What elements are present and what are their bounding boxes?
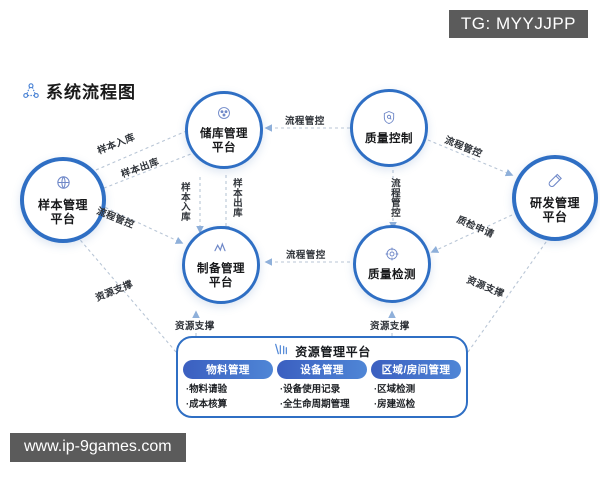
resource-bars-icon xyxy=(273,342,289,361)
edge-label-prep-to-storage: 样本入库 xyxy=(178,182,189,222)
node-label: 样本管理平台 xyxy=(38,198,88,226)
watermark-badge: www.ip-9games.com xyxy=(10,433,186,462)
resource-panel-title: 资源管理平台 xyxy=(295,343,371,360)
flask-research-icon xyxy=(547,172,564,194)
chart-trend-icon xyxy=(213,240,229,261)
list-item: 物料请验 xyxy=(186,383,274,398)
list-item: 设备使用记录 xyxy=(280,383,368,398)
resource-item-list: 物料请验 成本核算 xyxy=(182,383,274,412)
node-preparation-platform[interactable]: 制备管理平台 xyxy=(182,226,260,304)
node-sample-platform[interactable]: 样本管理平台 xyxy=(20,157,106,243)
diagram-canvas: TG: MYYJJPP www.ip-9games.com 系统流程图 xyxy=(0,0,600,480)
node-quality-control[interactable]: 质量控制 xyxy=(350,89,428,167)
edge-label-res-to-prep: 资源支撑 xyxy=(175,318,215,332)
resource-management-panel[interactable]: 资源管理平台 物料管理 物料请验 成本核算 设备管理 设备使用记录 全生命周期管… xyxy=(176,336,468,418)
resource-column: 区域/房间管理 区域检测 房建巡检 xyxy=(370,360,462,412)
tg-badge: TG: MYYJJPP xyxy=(449,10,588,38)
page-title: 系统流程图 xyxy=(22,78,136,103)
resource-item-list: 设备使用记录 全生命周期管理 xyxy=(276,383,368,412)
list-item: 全生命周期管理 xyxy=(280,398,368,413)
list-item: 区域检测 xyxy=(374,383,462,398)
node-storage-platform[interactable]: 储库管理平台 xyxy=(185,91,263,169)
node-label: 制备管理平台 xyxy=(197,263,245,290)
pill-area-room-management[interactable]: 区域/房间管理 xyxy=(371,360,461,379)
edge-label-qc-to-storage: 流程管控 xyxy=(285,113,325,127)
page-title-text: 系统流程图 xyxy=(46,78,136,103)
resource-columns: 物料管理 物料请验 成本核算 设备管理 设备使用记录 全生命周期管理 区域/房间… xyxy=(178,360,466,412)
edge-label-storage-to-prep: 样本出库 xyxy=(230,178,241,218)
resource-item-list: 区域检测 房建巡检 xyxy=(370,383,462,412)
node-label: 质量控制 xyxy=(365,133,413,147)
list-item: 成本核算 xyxy=(186,398,274,413)
pill-equipment-management[interactable]: 设备管理 xyxy=(277,360,367,379)
node-quality-test[interactable]: 质量检测 xyxy=(353,225,431,303)
pill-material-management[interactable]: 物料管理 xyxy=(183,360,273,379)
shield-check-icon xyxy=(381,109,397,131)
edge-label-qc-to-qt: 流程管控 xyxy=(388,178,399,218)
node-label: 储库管理平台 xyxy=(200,128,248,155)
network-nodes-icon xyxy=(22,82,40,100)
node-label: 质量检测 xyxy=(368,269,416,283)
resource-column: 物料管理 物料请验 成本核算 xyxy=(182,360,274,412)
node-rd-platform[interactable]: 研发管理平台 xyxy=(512,155,598,241)
edge-label-res-to-qt: 资源支撑 xyxy=(370,318,410,332)
resource-column: 设备管理 设备使用记录 全生命周期管理 xyxy=(276,360,368,412)
storage-dots-icon xyxy=(216,105,232,126)
node-label: 研发管理平台 xyxy=(530,196,580,224)
list-item: 房建巡检 xyxy=(374,398,462,413)
target-scope-icon xyxy=(384,246,400,267)
globe-sample-icon xyxy=(55,174,72,196)
edge-label-qt-to-prep: 流程管控 xyxy=(286,247,326,261)
